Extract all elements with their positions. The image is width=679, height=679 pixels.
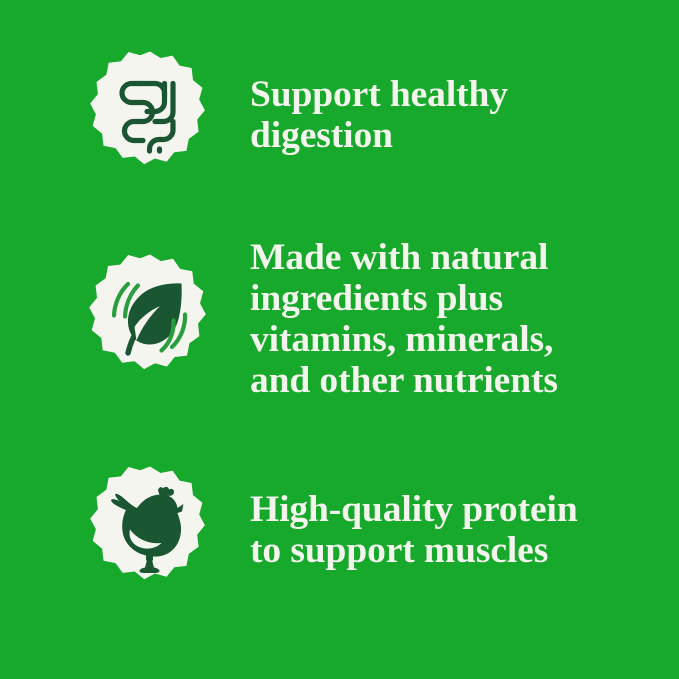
benefit-text: High-quality protein to support muscles bbox=[250, 489, 679, 571]
chicken-icon bbox=[85, 465, 215, 595]
intestine-icon bbox=[85, 50, 215, 180]
benefit-badge bbox=[84, 253, 216, 385]
benefit-text-line: High-quality protein bbox=[250, 489, 679, 530]
leaf-icon bbox=[84, 253, 216, 385]
benefit-text-line: Made with natural bbox=[250, 237, 679, 278]
benefit-text-line: to support muscles bbox=[250, 530, 679, 571]
benefit-text: Made with natural ingredients plus vitam… bbox=[250, 237, 679, 401]
benefit-row: Support healthy digestion bbox=[0, 50, 679, 180]
benefit-text: Support healthy digestion bbox=[250, 74, 679, 156]
benefit-text-line: and other nutrients bbox=[250, 360, 679, 401]
benefit-text-line: vitamins, minerals, bbox=[250, 319, 679, 360]
benefit-badge bbox=[85, 50, 215, 180]
benefits-panel: Support healthy digestion bbox=[0, 0, 679, 679]
benefit-row: Made with natural ingredients plus vitam… bbox=[0, 253, 679, 385]
benefit-text-line: ingredients plus bbox=[250, 278, 679, 319]
benefit-row: High-quality protein to support muscles bbox=[0, 465, 679, 595]
benefit-badge bbox=[85, 465, 215, 595]
benefit-text-line: digestion bbox=[250, 115, 679, 156]
benefit-text-line: Support healthy bbox=[250, 74, 679, 115]
